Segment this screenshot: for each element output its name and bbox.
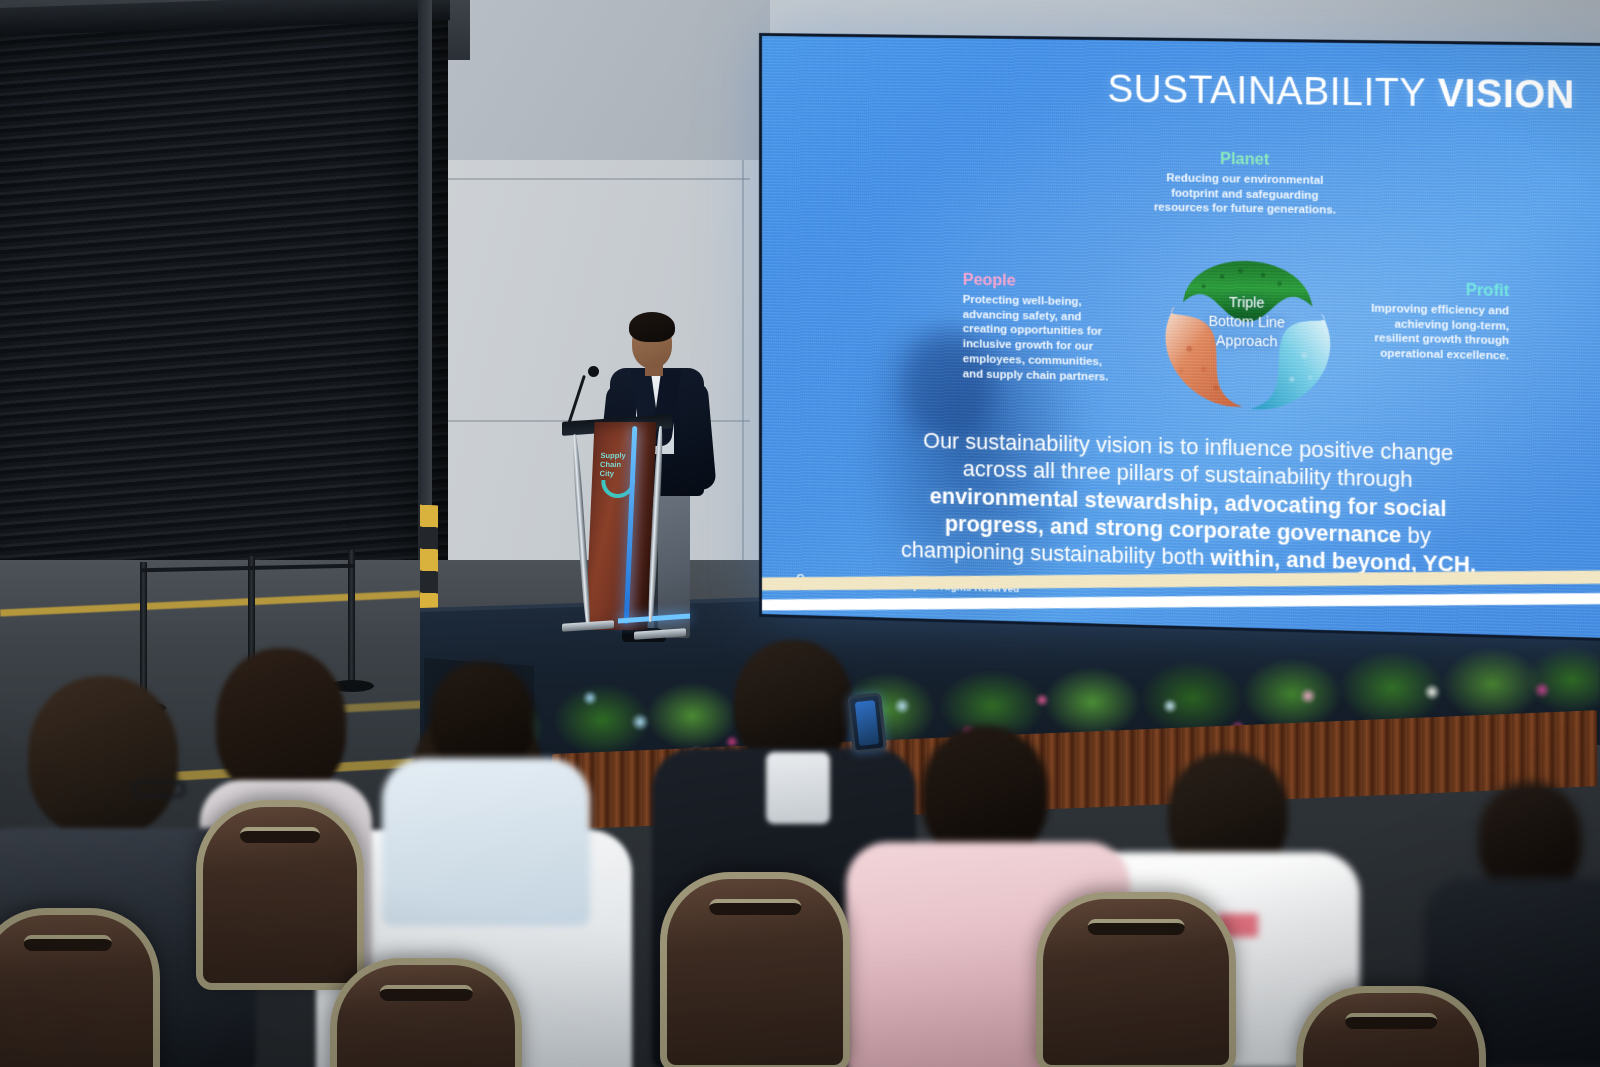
pillar-planet-line-3: resources for future generations. [1127, 200, 1363, 219]
chair-back-slot [380, 985, 473, 1001]
photo-scene: SUSTAINABILITY VISION Planet Reducing ou… [0, 0, 1600, 1067]
screen-surface: SUSTAINABILITY VISION Planet Reducing ou… [762, 36, 1600, 638]
audience-person-3 [386, 662, 586, 922]
slide-content: SUSTAINABILITY VISION Planet Reducing ou… [762, 36, 1600, 638]
audience-chair-1 [0, 908, 160, 1067]
statement-seg: championing sustainability both [901, 538, 1210, 570]
podium-base-left [562, 620, 614, 632]
chair-back-slot [1088, 919, 1185, 935]
audience-head [922, 726, 1048, 860]
audience-chair-2 [196, 800, 364, 990]
graphic-center-label: Triple Bottom Line Approach [1175, 292, 1319, 352]
audience-glasses-icon [132, 780, 186, 798]
audience-chair-5 [1036, 892, 1236, 1067]
chair-back-slot [240, 827, 320, 843]
podium: Supply Chain City [556, 418, 706, 646]
pillar-planet: Planet Reducing our environmental footpr… [1127, 149, 1363, 219]
audience-head [28, 676, 178, 836]
chair-back-slot [24, 935, 112, 951]
led-presentation-screen: SUSTAINABILITY VISION Planet Reducing ou… [762, 36, 1600, 638]
audience-chair-4 [660, 872, 850, 1067]
slide-statement: Our sustainability vision is to influenc… [882, 427, 1495, 580]
slide-title-light: SUSTAINABILITY [1107, 68, 1426, 115]
graphic-center-line-3: Approach [1175, 330, 1319, 352]
roller-shutter-door [0, 0, 448, 612]
wall-upper-panel [430, 0, 770, 160]
pillar-planet-heading: Planet [1127, 149, 1363, 170]
audience-chair-3 [330, 958, 522, 1067]
triple-bottom-line-graphic: Triple Bottom Line Approach [1110, 222, 1385, 420]
wall-seam-horizontal-1 [420, 178, 750, 180]
slide-title: SUSTAINABILITY VISION [999, 67, 1575, 118]
speaker-hair [629, 312, 675, 342]
chair-back-slot [1345, 1013, 1437, 1029]
slide-title-bold: VISION [1438, 73, 1575, 118]
microphone-icon [588, 366, 599, 377]
podium-brand-line-3: City [599, 470, 643, 479]
audience-collar [766, 752, 830, 824]
statement-seg: by [1401, 523, 1431, 548]
chair-back-slot [709, 899, 801, 915]
pillar-planet-body: Reducing our environmental footprint and… [1127, 170, 1363, 219]
podium-brand-logo: Supply Chain City [599, 452, 644, 479]
slide-stripe-white [762, 592, 1600, 611]
audience-shoulders [382, 758, 590, 926]
